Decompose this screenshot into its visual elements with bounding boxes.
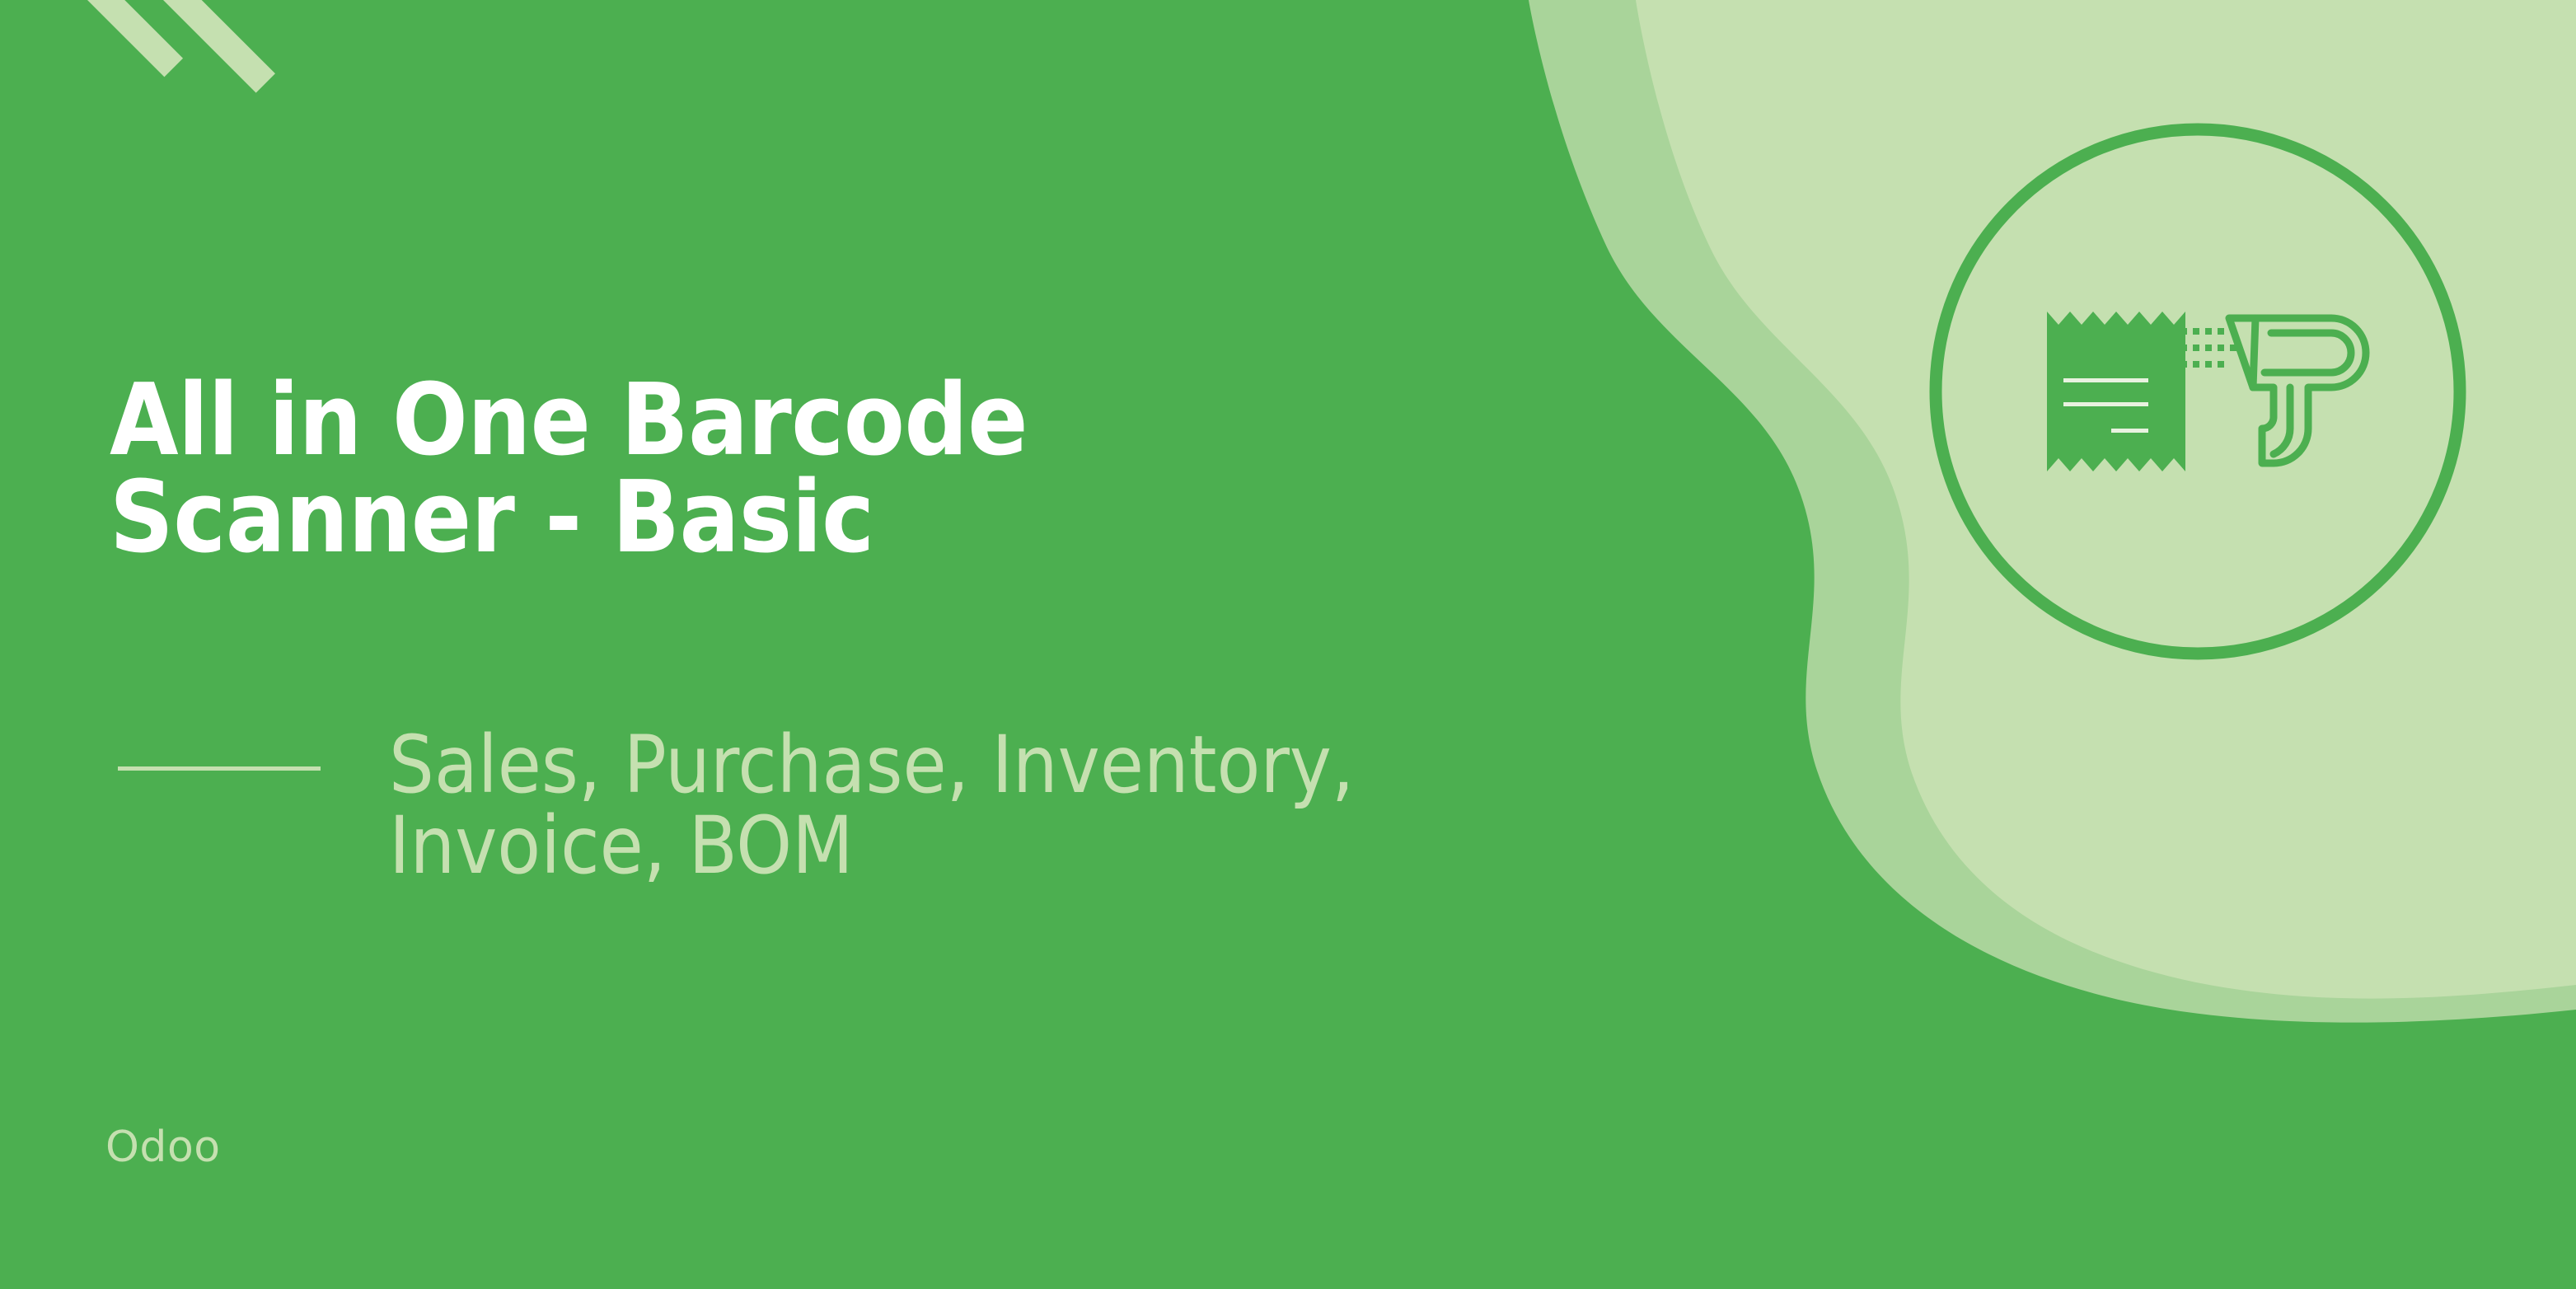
scan-dots-icon bbox=[2180, 328, 2236, 368]
banner-canvas: All in One Barcode Scanner - Basic Sales… bbox=[0, 0, 2576, 1289]
illustration-group bbox=[0, 0, 2576, 1289]
receipt-icon bbox=[2047, 312, 2185, 471]
page-title: All in One Barcode Scanner - Basic bbox=[110, 373, 1346, 566]
barcode-scanner-icon bbox=[2229, 318, 2366, 463]
brand-label: Odoo bbox=[105, 1123, 221, 1172]
circle-ring-icon bbox=[1936, 129, 2460, 654]
title-divider bbox=[118, 766, 321, 771]
page-subtitle: Sales, Purchase, Inventory, Invoice, BOM bbox=[389, 725, 1790, 887]
